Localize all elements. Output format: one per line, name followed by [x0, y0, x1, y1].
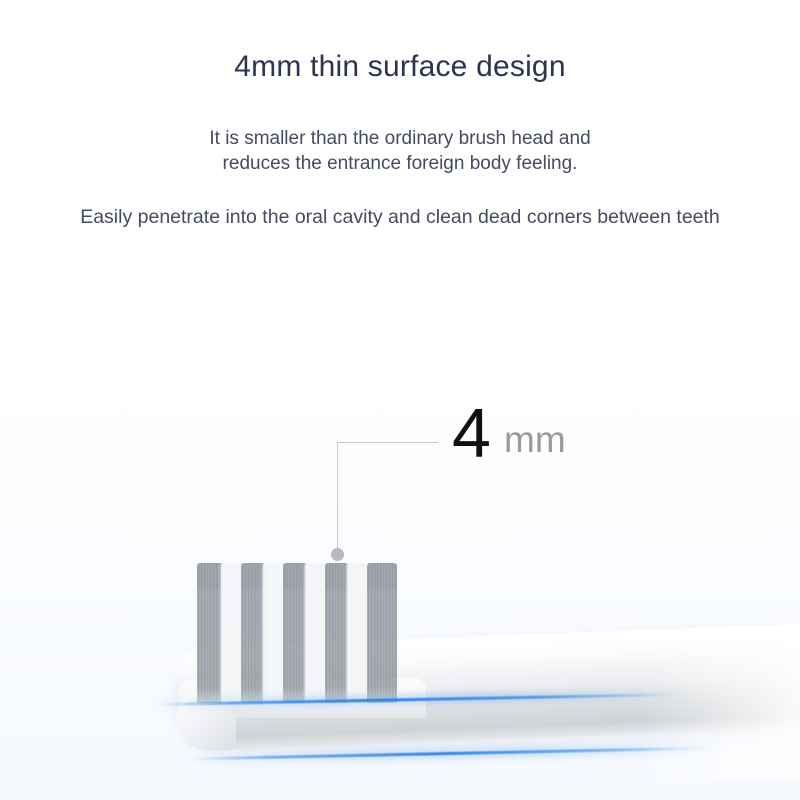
bristle-tuft: [325, 563, 349, 703]
bristle-tip-texture: [241, 563, 265, 589]
bristle-tuft: [221, 563, 243, 703]
bristle-field: [197, 563, 397, 703]
toothbrush-product-image: [0, 0, 800, 800]
bristle-tip-texture: [367, 563, 397, 589]
bristle-tuft: [367, 563, 397, 703]
bristle-tuft: [197, 563, 223, 703]
accent-glow-lower: [180, 742, 730, 765]
bristle-tuft: [283, 563, 307, 703]
feature-tagline: Easily penetrate into the oral cavity an…: [0, 204, 800, 230]
handle-highlight: [176, 625, 800, 676]
bristle-tuft: [305, 563, 327, 703]
feature-description-line-2: reduces the entrance foreign body feelin…: [0, 151, 800, 176]
callout-value: 4: [452, 398, 490, 468]
bristle-tip-texture: [283, 563, 307, 589]
accent-line-upper: [158, 693, 678, 706]
brush-head-plate: [176, 678, 426, 718]
callout-leader-vertical: [337, 442, 338, 554]
toothbrush-handle: [174, 623, 800, 751]
callout-unit: mm: [504, 420, 566, 460]
bristle-tip-texture: [197, 563, 223, 589]
bristle-tuft: [241, 563, 265, 703]
feature-description-line-1: It is smaller than the ordinary brush he…: [0, 126, 800, 151]
handle-fade-overlay: [640, 630, 800, 780]
bristle-tip-texture: [325, 563, 349, 589]
accent-glow-upper: [150, 689, 695, 709]
bristle-tuft: [347, 563, 369, 703]
page-title: 4mm thin surface design: [0, 48, 800, 86]
feature-description: It is smaller than the ordinary brush he…: [0, 126, 800, 176]
accent-line-lower: [190, 747, 710, 761]
callout-anchor-dot: [331, 548, 344, 561]
product-feature-page: 4mm thin surface design It is smaller th…: [0, 0, 800, 800]
bristle-tuft: [263, 563, 285, 703]
callout-leader-horizontal: [337, 442, 438, 443]
bristle-base-shadow: [197, 687, 397, 703]
brush-head-left-edge: [176, 688, 236, 750]
